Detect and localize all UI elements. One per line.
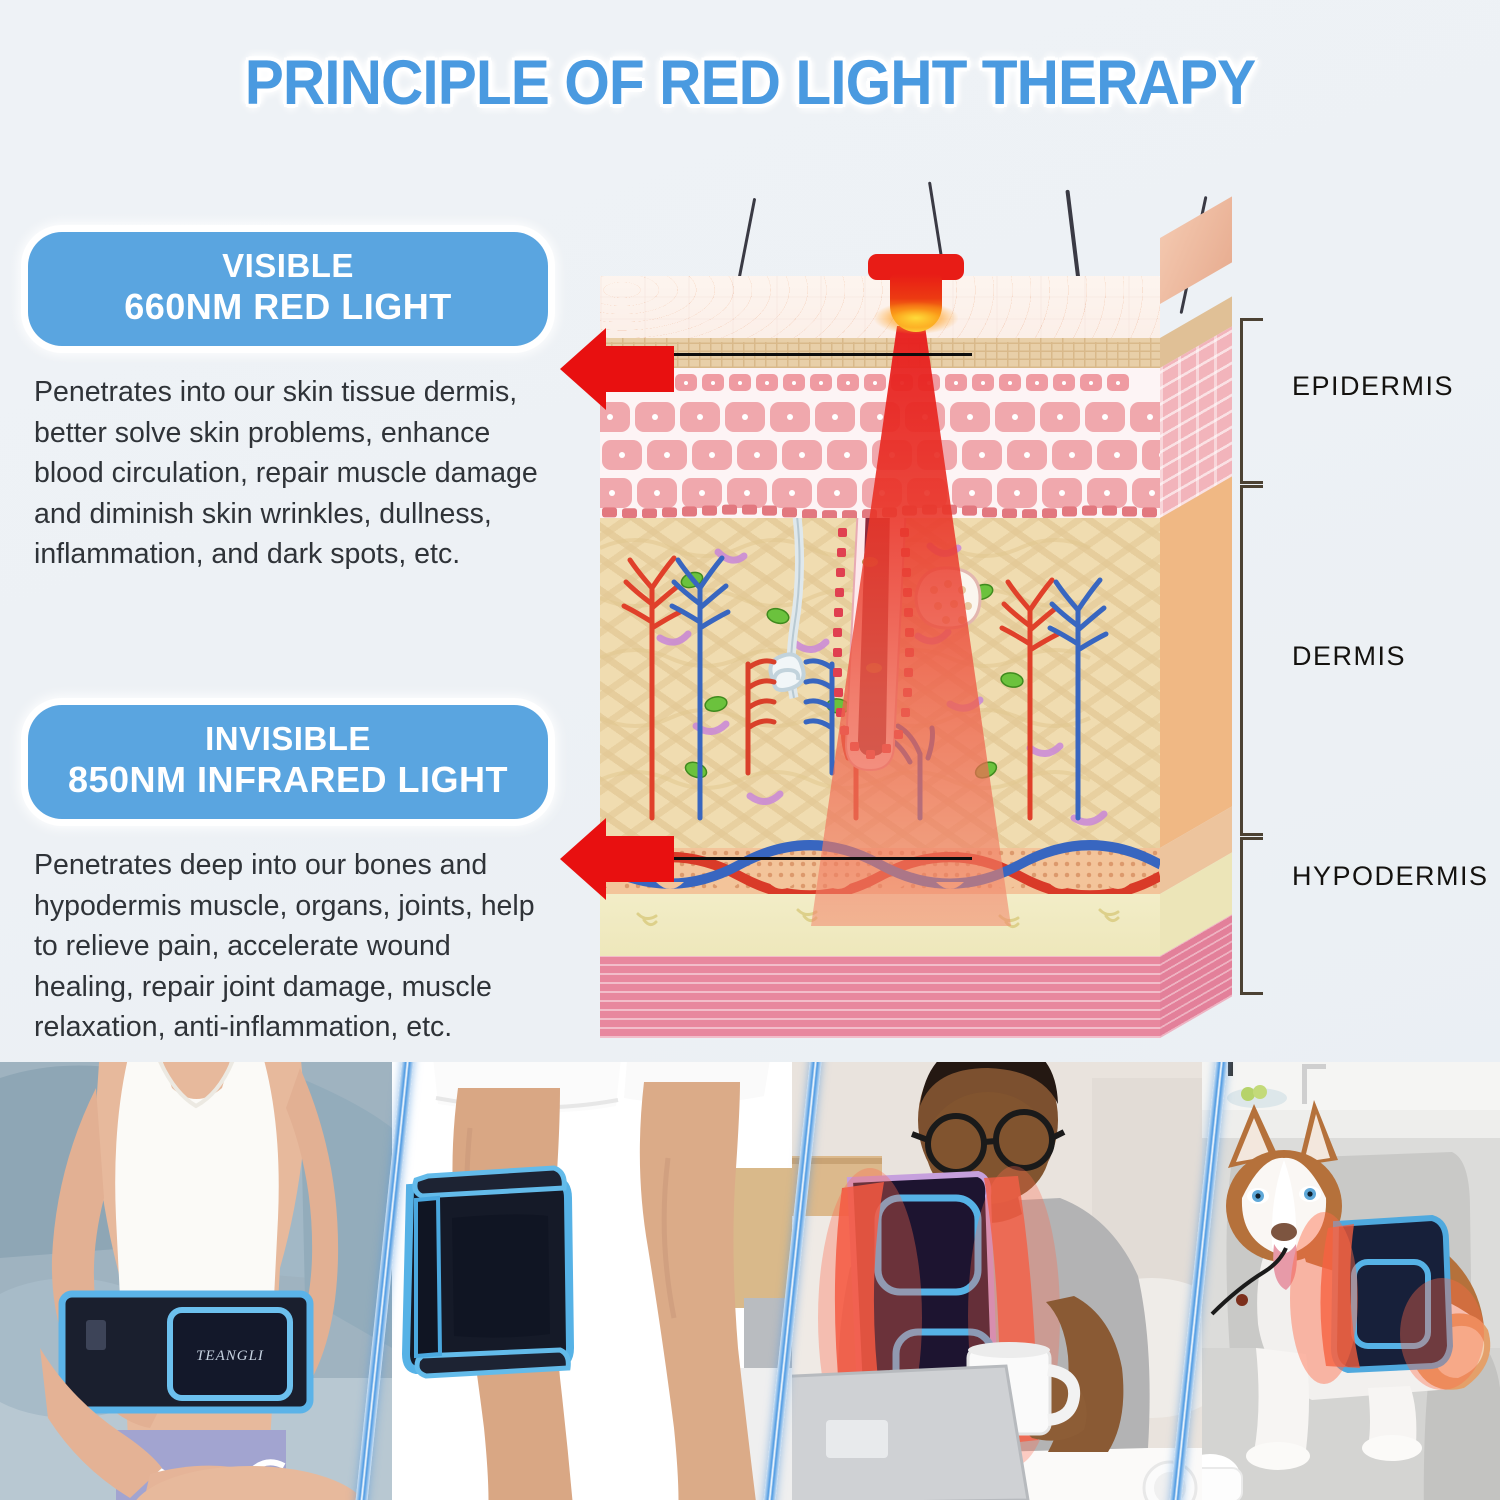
bracket-epidermis [1240, 318, 1263, 484]
basal-cell-layer [600, 500, 1160, 518]
section-visible-red-light: VISIBLE 660NM RED LIGHT Penetrates into … [28, 232, 548, 575]
leader-line-hypodermis [672, 857, 972, 860]
skin-block-3d [600, 230, 1232, 925]
led-glow [874, 302, 958, 334]
badge-visible-red-light: VISIBLE 660NM RED LIGHT [28, 232, 548, 346]
page-title: PRINCIPLE OF RED LIGHT THERAPY [53, 52, 1448, 115]
infographic-page: PRINCIPLE OF RED LIGHT THERAPY VISIBLE 6… [0, 0, 1500, 1500]
badge-line-1: VISIBLE [46, 247, 530, 286]
skin-cross-section-diagram: EPIDERMIS DERMIS HYPODERMIS [592, 175, 1292, 965]
badge-invisible-infrared-light: INVISIBLE 850NM INFRARED LIGHT [28, 705, 548, 819]
photo-woman-waist-belt[interactable]: TEANGLI [0, 1062, 392, 1500]
skin-front-face [600, 338, 1160, 1038]
skin-surface-side-face [1160, 196, 1232, 304]
layer-dermis [600, 518, 1160, 848]
side-face-dermis [1160, 476, 1232, 848]
layer-hypodermis-granular [600, 848, 1160, 894]
label-dermis: DERMIS [1292, 641, 1406, 672]
product-photo-strip: TEANGLI [0, 1062, 1500, 1500]
layer-epidermis [600, 368, 1160, 518]
layer-muscle [600, 956, 1160, 1038]
photo-knee-wrap[interactable] [392, 1062, 792, 1500]
leader-line-epidermis [672, 353, 972, 356]
svg-text:TEANGLI: TEANGLI [196, 1348, 264, 1364]
section-invisible-infrared-light: INVISIBLE 850NM INFRARED LIGHT Penetrate… [28, 705, 548, 1048]
label-epidermis: EPIDERMIS [1292, 371, 1454, 402]
bracket-dermis [1240, 485, 1263, 836]
badge-line-1: INVISIBLE [46, 720, 530, 759]
badge-line-2: 660NM RED LIGHT [46, 286, 530, 328]
section-body-text: Penetrates into our skin tissue dermis, … [28, 372, 548, 574]
photo-husky-dog-wrap[interactable] [1202, 1062, 1500, 1500]
label-hypodermis: HYPODERMIS [1292, 861, 1489, 892]
photo-man-with-laptop[interactable] [792, 1062, 1202, 1500]
bracket-hypodermis [1240, 837, 1263, 995]
badge-line-2: 850NM INFRARED LIGHT [46, 759, 530, 801]
layer-fat-tissue [600, 894, 1160, 956]
section-body-text: Penetrates deep into our bones and hypod… [28, 845, 548, 1047]
